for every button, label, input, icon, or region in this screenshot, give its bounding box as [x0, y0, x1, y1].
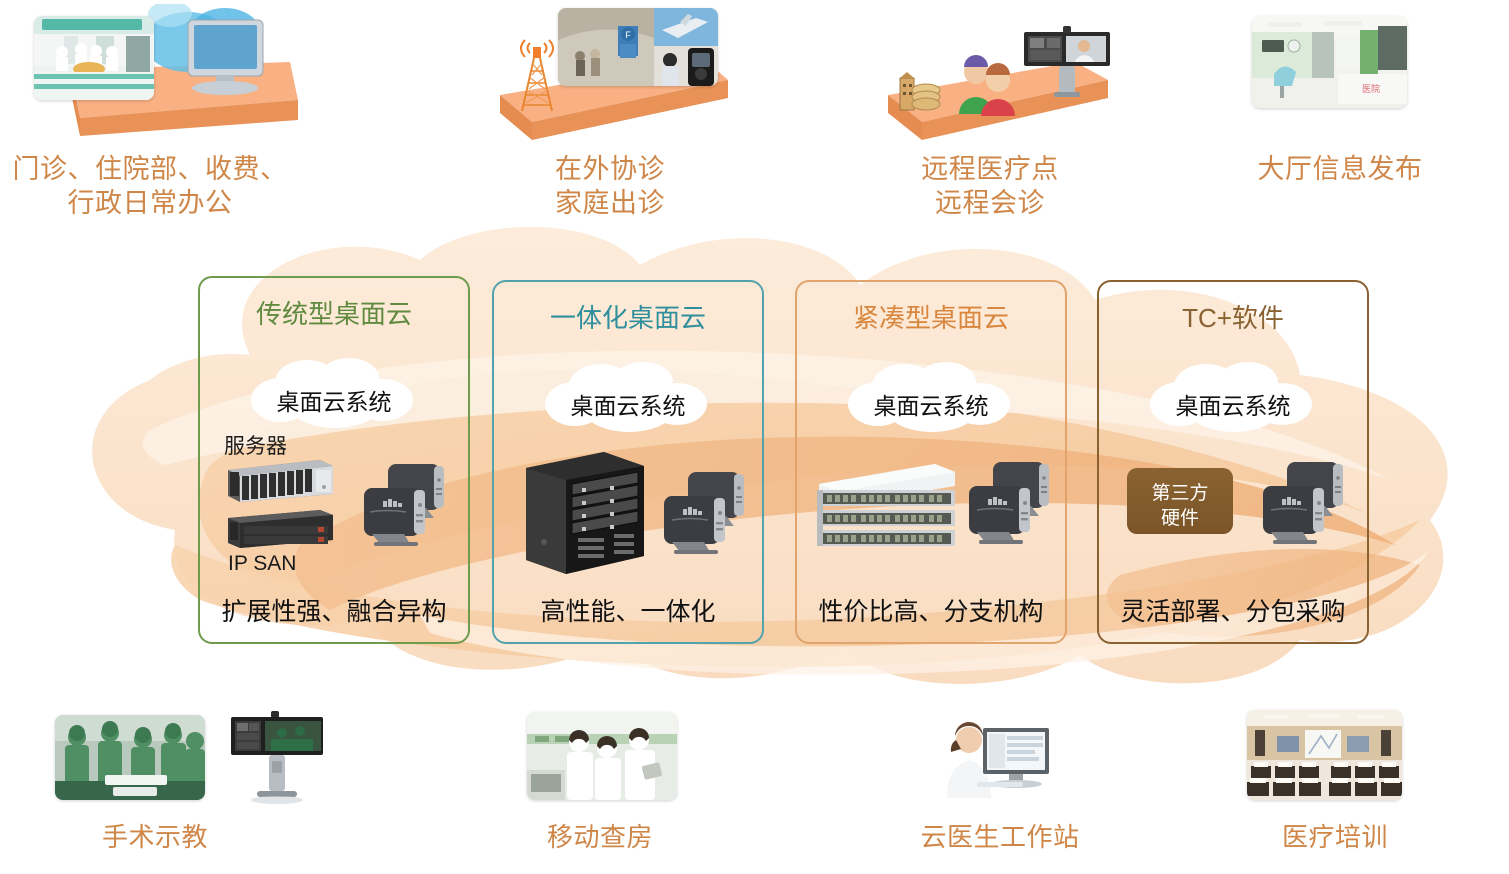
- panel-title-traditional: 传统型桌面云: [200, 294, 468, 331]
- airport-travel-photo-collage: F: [558, 8, 718, 86]
- ip-san-storage-icon: [228, 510, 333, 548]
- training-classroom-photo: [1247, 710, 1402, 800]
- caption-surgery-teaching: 手术示教: [40, 820, 270, 854]
- system-label-integrated: 桌面云系统: [494, 387, 762, 421]
- panel-compact[interactable]: 紧凑型桌面云 桌面云系统: [795, 280, 1067, 644]
- thin-client-pair-icon: [957, 454, 1062, 559]
- panel-traditional[interactable]: 传统型桌面云 桌面云系统 服务器: [198, 276, 470, 644]
- panel-title-compact: 紧凑型桌面云: [797, 298, 1065, 335]
- top-scene-lobby-info: 医院: [1240, 8, 1490, 138]
- operating-room-photo: [55, 715, 205, 800]
- device-label-server: 服务器: [224, 430, 287, 460]
- cell-tower-icon: [512, 33, 562, 115]
- panel-tc-plus-software[interactable]: TC+软件 桌面云系统 第三方 硬件: [1097, 280, 1369, 644]
- video-conference-screen-icon: [1018, 22, 1118, 102]
- caption-mobile-rounds: 移动查房: [490, 820, 710, 854]
- system-label-tc-plus-software: 桌面云系统: [1099, 387, 1367, 421]
- system-label-compact: 桌面云系统: [797, 387, 1065, 421]
- blade-server-icon: [228, 460, 333, 502]
- caption-telemedicine: 远程医疗点 远程会诊: [840, 152, 1140, 220]
- caption-external-consult: 在外协诊 家庭出诊: [460, 152, 760, 220]
- thin-client-pair-icon: [652, 464, 757, 569]
- bottom-scene-cloud-doctor-workstation: [925, 706, 1100, 811]
- thin-client-pair-icon: [352, 456, 457, 561]
- hospital-nurse-station-photo: [34, 16, 154, 100]
- bottom-scene-mobile-rounds: [527, 712, 697, 812]
- doctor-at-computer-photo: [925, 706, 1075, 798]
- doctors-rounds-photo: [527, 712, 677, 800]
- panel-footer-integrated: 高性能、一体化: [494, 592, 762, 628]
- telepresence-display-icon: [227, 711, 327, 811]
- top-scene-outpatient: [20, 0, 300, 145]
- diagram-stage: 门诊、住院部、收费、 行政日常办公 F: [0, 0, 1509, 874]
- thin-client-pair-icon: [1251, 454, 1356, 559]
- device-label-ipsan: IP SAN: [228, 552, 296, 576]
- two-people-avatars-icon: [954, 54, 1020, 116]
- rack-stack-3u-icon: [811, 460, 959, 556]
- top-scene-external-consult: F: [490, 0, 740, 145]
- tower-server-icon: [518, 450, 648, 578]
- panel-title-integrated: 一体化桌面云: [494, 298, 762, 335]
- caption-medical-training: 医疗培训: [1220, 820, 1450, 854]
- third-party-hardware-box[interactable]: 第三方 硬件: [1127, 468, 1233, 534]
- bottom-scene-medical-training: [1247, 706, 1432, 811]
- caption-cloud-doctor-workstation: 云医生工作站: [870, 820, 1130, 854]
- panel-integrated[interactable]: 一体化桌面云 桌面云系统: [492, 280, 764, 644]
- svg-text:F: F: [625, 30, 631, 40]
- caption-lobby-info: 大厅信息发布: [1190, 152, 1490, 186]
- svg-text:医院: 医院: [1362, 83, 1380, 94]
- panel-title-tc-plus-software: TC+软件: [1099, 298, 1367, 335]
- bottom-scene-surgery-teaching: [45, 705, 335, 815]
- top-scene-telemedicine: [870, 0, 1120, 145]
- hospital-lobby-photo: 医院: [1252, 16, 1407, 108]
- panel-footer-tc-plus-software: 灵活部署、分包采购: [1099, 592, 1367, 628]
- caption-outpatient: 门诊、住院部、收费、 行政日常办公: [0, 152, 300, 220]
- system-label-traditional: 桌面云系统: [200, 383, 468, 417]
- panel-footer-traditional: 扩展性强、融合异构: [200, 592, 468, 628]
- village-house-icon: [898, 72, 944, 118]
- panel-footer-compact: 性价比高、分支机构: [797, 592, 1065, 628]
